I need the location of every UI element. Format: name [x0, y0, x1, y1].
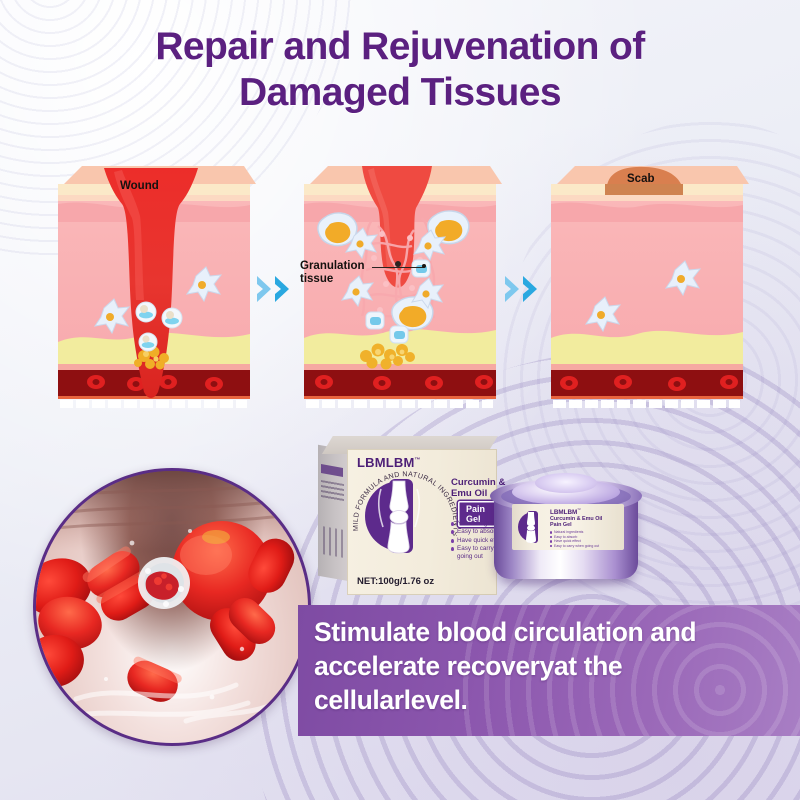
jar-label: LBMLBM™ Curcumin & Emu Oil Pain Gel Natu… — [512, 504, 624, 550]
caption-line-3: cellularlevel. — [314, 683, 784, 717]
product-box-side-text-lower — [323, 526, 343, 558]
jar-product-name-line-2: Pain Gel — [550, 522, 622, 528]
wound-label: Wound — [120, 180, 159, 193]
page-title: Repair and Rejuvenation of Damaged Tissu… — [0, 24, 800, 116]
stage-arrow-2 — [503, 272, 543, 306]
product-box-front-face: LBMLBM™ MILD FORMULA AND NATURAL INGREDI… — [347, 449, 497, 595]
granulation-label-line-1: Granulation — [300, 260, 365, 272]
box-brand-name: LBMLBM™ — [357, 455, 421, 470]
wound-healing-stages: Wound — [0, 160, 800, 422]
skin-cross-section-scab — [541, 160, 753, 410]
granulation-label-line-2: tissue — [300, 273, 333, 285]
page-title-line-1: Repair and Rejuvenation of — [155, 25, 644, 68]
box-net-weight: NET:100g/1.76 oz — [357, 576, 434, 587]
jar-brand-name: LBMLBM™ — [550, 508, 581, 516]
product-jar: LBMLBM™ Curcumin & Emu Oil Pain Gel Natu… — [490, 461, 642, 588]
stage-arrow-1 — [255, 272, 295, 306]
page-title-line-2: Damaged Tissues — [0, 70, 800, 116]
product-shot: LBMLBM™ MILD FORMULA AND NATURAL INGREDI… — [318, 425, 648, 610]
blood-cells-microscope-image — [33, 468, 311, 746]
granulation-leader-line — [372, 267, 424, 268]
granulation-stage-panel: Granulation tissue — [294, 160, 506, 410]
knee-joint-icon — [359, 475, 441, 557]
jar-feature-list: Natural ingredients Easy to absorb Have … — [550, 530, 624, 548]
caption-line-1: Stimulate blood circulation and — [314, 615, 784, 649]
caption-line-2: accelerate recoveryat the — [314, 649, 784, 683]
double-chevron-right-icon — [503, 272, 543, 306]
box-brand-text: LBMLBM — [357, 455, 415, 470]
benefit-caption-text: Stimulate blood circulation and accelera… — [314, 615, 784, 717]
infographic-canvas: Repair and Rejuvenation of Damaged Tissu… — [0, 0, 800, 800]
benefit-caption-panel: Stimulate blood circulation and accelera… — [298, 605, 800, 736]
jar-trademark-symbol: ™ — [577, 508, 581, 512]
jar-knee-joint-icon — [516, 509, 546, 545]
granulation-leader-dot — [422, 264, 426, 268]
jar-feature-item: Easy to carry when going out — [550, 544, 624, 549]
jar-gel-highlight — [535, 473, 597, 493]
jar-product-name: Curcumin & Emu Oil Pain Gel — [550, 516, 622, 529]
red-blood-cells-illustration — [36, 471, 308, 743]
scab-label: Scab — [627, 173, 655, 186]
wound-stage-panel: Wound — [48, 160, 260, 410]
granulation-tissue-label: Granulation tissue — [300, 260, 374, 286]
scab-stage-panel: Scab — [541, 160, 753, 410]
product-box-side-text-upper — [321, 480, 344, 502]
blood-circle-frame — [33, 468, 311, 746]
product-box: LBMLBM™ MILD FORMULA AND NATURAL INGREDI… — [318, 436, 498, 584]
skin-cross-section-wound — [48, 160, 260, 410]
double-chevron-right-icon — [255, 272, 295, 306]
box-trademark-symbol: ™ — [415, 458, 421, 464]
